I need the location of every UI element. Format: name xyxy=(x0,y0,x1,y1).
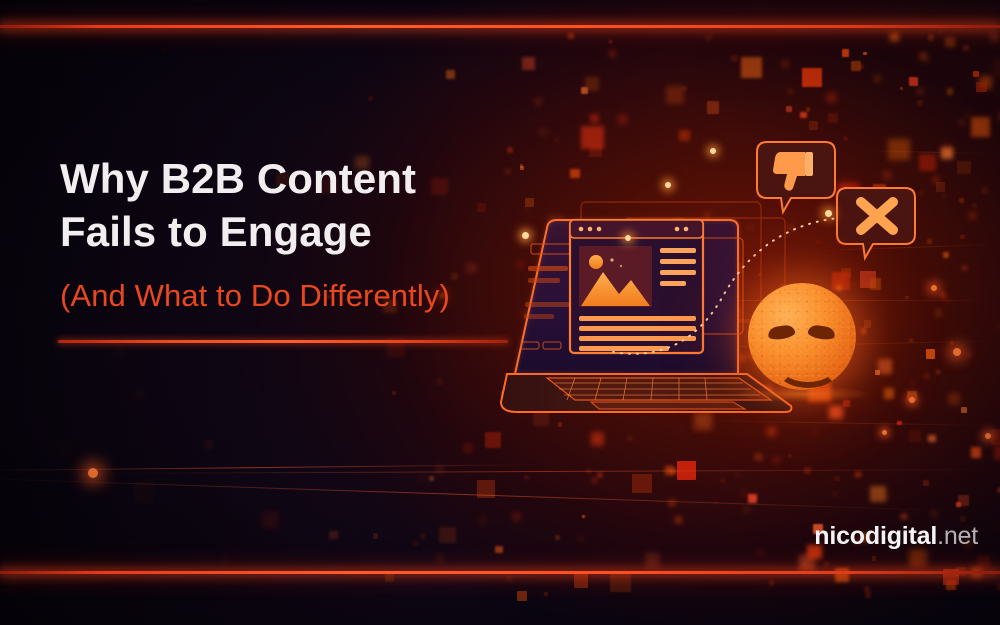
image-placeholder xyxy=(579,246,652,307)
illustration xyxy=(495,120,925,430)
headline-underline xyxy=(58,340,508,343)
sad-face-emoji xyxy=(748,283,856,390)
brand-logo-name: nicodigital xyxy=(814,522,937,550)
brand-logo-tld: .net xyxy=(937,522,978,550)
brand-logo[interactable]: nicodigital.net xyxy=(814,522,978,551)
thumbs-down-bubble xyxy=(757,142,835,212)
arc-node xyxy=(625,235,631,241)
emoji-frown-mouth xyxy=(777,350,839,388)
headline-subtitle: (And What to Do Differently) xyxy=(60,277,530,315)
headline-line-2: Fails to Engage xyxy=(60,205,530,258)
x-mark-bubble xyxy=(837,188,915,258)
headline-block: Why B2B Content Fails to Engage (And Wha… xyxy=(60,152,530,315)
browser-window xyxy=(570,220,703,353)
arc-node xyxy=(710,148,716,154)
top-accent-line xyxy=(0,25,1000,28)
arc-node xyxy=(665,182,671,188)
trackpad xyxy=(591,402,745,409)
banner-canvas: Why B2B Content Fails to Engage (And Wha… xyxy=(0,0,1000,625)
arc-node xyxy=(825,210,832,217)
bottom-accent-line xyxy=(0,571,1000,574)
headline-line-1: Why B2B Content xyxy=(60,152,530,205)
